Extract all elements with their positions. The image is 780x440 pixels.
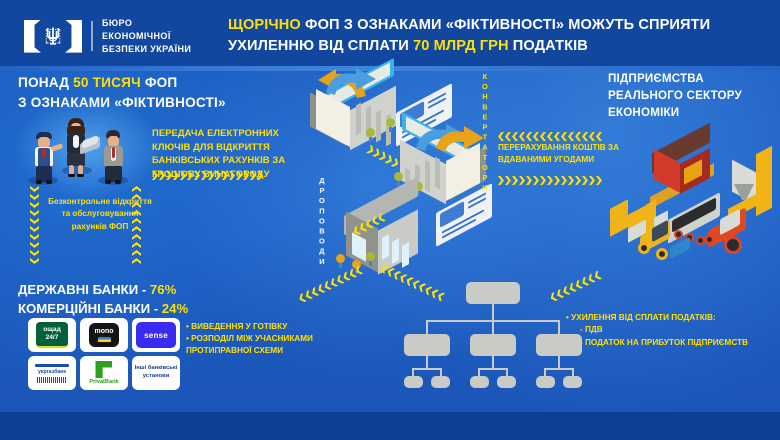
- org-node-l2: [470, 334, 516, 356]
- cash-bullets: • ВИВЕДЕННЯ У ГОТІВКУ • РОЗПОДІЛ МІЖ УЧА…: [186, 321, 318, 357]
- curved-arrow-2: [322, 66, 382, 98]
- commercial-banks-value: 24%: [162, 301, 188, 316]
- cash-bullet-1: • ВИВЕДЕННЯ У ГОТІВКУ: [186, 321, 318, 333]
- state-banks-label: ДЕРЖАВНІ БАНКИ -: [18, 282, 150, 297]
- infographic-canvas: 🇺​ БЮРО ЕКОНОМІЧНОЇ БЕЗПЕКИ УКРАЇНИ ЩОРІ…: [0, 0, 780, 440]
- oschadbank-sub: 24/7: [46, 334, 59, 342]
- org-node-l1b: [431, 376, 450, 388]
- bank-logo-sense[interactable]: sense: [132, 318, 180, 352]
- left-title-post: ФОП: [141, 75, 178, 90]
- state-banks-value: 76%: [150, 282, 176, 297]
- bank-logo-other[interactable]: Інші банківські установи: [132, 356, 180, 390]
- org-node-l2a: [470, 376, 489, 388]
- keys-arrow-row: [152, 171, 263, 180]
- evasion-item-1: - ПДВ: [566, 324, 766, 336]
- wheel-loader-illustration: [626, 224, 692, 262]
- bank-logo-grid: ощад 24/7 mono sense укргазбанк Priva: [28, 318, 180, 390]
- headline-text-2: УХИЛЕННЮ ВІД СПЛАТИ: [228, 38, 413, 54]
- down-arrows-left: [30, 186, 39, 264]
- monobank-name: mono: [94, 328, 113, 335]
- konvertatory-label: КОНВЕРТАТОРИ: [481, 72, 488, 193]
- ua-flag-icon: [98, 337, 111, 342]
- org-node-l2b: [497, 376, 516, 388]
- oschadbank-name: ощад: [43, 326, 61, 334]
- tree-2: [386, 118, 395, 132]
- left-title-pre: ПОНАД: [18, 75, 73, 90]
- bank-logo-oschadbank[interactable]: ощад 24/7: [28, 318, 76, 352]
- tax-evasion-bullets: • УХИЛЕННЯ ВІД СПЛАТИ ПОДАТКІВ: - ПДВ - …: [566, 312, 766, 349]
- other-banks-name: Інші банківські установи: [132, 365, 180, 380]
- org-node-root: [466, 282, 520, 304]
- uncontrolled-accounts-text: Безконтрольне відкриття та обслуговуванн…: [44, 196, 156, 233]
- evasion-title: • УХИЛЕННЯ ВІД СПЛАТИ ПОДАТКІВ:: [566, 312, 766, 324]
- transfer-funds-text: ПЕРЕРАХУВАННЯ КОШТІВ ЗА ВДАВАНИМИ УГОДАМ…: [498, 142, 658, 167]
- commercial-banks-label: КОМЕРЦІЙНІ БАНКИ -: [18, 301, 162, 316]
- ukrgasbank-name: укргазбанк: [38, 369, 66, 375]
- bank-logo-ukrgasbank[interactable]: укргазбанк: [28, 356, 76, 390]
- logo-divider: [91, 21, 93, 51]
- sense-name: sense: [144, 331, 168, 340]
- headline-highlight-1: ЩОРІЧНО: [228, 17, 301, 33]
- footer-bar: [0, 412, 780, 440]
- flow-arrows-office-left: [298, 265, 364, 303]
- bank-logo-monobank[interactable]: mono: [80, 318, 128, 352]
- headline-text-3: ПОДАТКІВ: [509, 38, 588, 54]
- logo-line-3: БЕЗПЕКИ УКРАЇНИ: [102, 43, 191, 56]
- logo-line-1: БЮРО: [102, 17, 191, 30]
- trident-icon: [46, 26, 60, 46]
- evasion-item-2: - ПОДАТОК НА ПРИБУТОК ПІДПРИЄМСТВ: [566, 337, 766, 349]
- bank-logo-privatbank[interactable]: PrivatBank: [80, 356, 128, 390]
- tree-1: [366, 128, 375, 142]
- transfer-arrows-right: [498, 176, 602, 185]
- left-title-number: 50 ТИСЯЧ: [73, 75, 141, 90]
- beb-logo: 🇺​ БЮРО ЕКОНОМІЧНОЇ БЕЗПЕКИ УКРАЇНИ: [24, 17, 191, 55]
- headline-highlight-2: 70 МЛРД ГРН: [413, 38, 509, 54]
- fop-people-illustration: [22, 104, 150, 190]
- org-node-l3a: [536, 376, 555, 388]
- headline: ЩОРІЧНО ФОП З ОЗНАКАМИ «ФІКТИВНОСТІ» МОЖ…: [228, 15, 774, 56]
- privatbank-mark-icon: [95, 361, 112, 378]
- banks-stats: ДЕРЖАВНІ БАНКИ - 76% КОМЕРЦІЙНІ БАНКИ - …: [18, 281, 298, 318]
- org-node-l1a: [404, 376, 423, 388]
- right-title: ПІДПРИЄМСТВА РЕАЛЬНОГО СЕКТОРУ ЕКОНОМІКИ: [608, 71, 778, 121]
- tractor-illustration: [700, 214, 762, 258]
- dropovody-label: ДРОПОВОДИ: [318, 176, 325, 267]
- logo-text: БЮРО ЕКОНОМІЧНОЇ БЕЗПЕКИ УКРАЇНИ: [102, 17, 191, 55]
- cash-bullet-2: • РОЗПОДІЛ МІЖ УЧАСНИКАМИ ПРОТИПРАВНОЇ С…: [186, 333, 318, 357]
- org-node-l3b: [563, 376, 582, 388]
- org-chart-diagram: [404, 282, 584, 390]
- headline-text-1: ФОП З ОЗНАКАМИ «ФІКТИВНОСТІ» МОЖУТЬ СПРИ…: [301, 17, 710, 33]
- bracket-trident-logo-icon: 🇺​: [24, 20, 82, 53]
- tree-7: [366, 252, 375, 266]
- warehouse-illustration: [648, 138, 718, 192]
- transfer-arrows-left: [498, 132, 602, 141]
- org-node-l1: [404, 334, 450, 356]
- logo-line-2: ЕКОНОМІЧНОЇ: [102, 30, 191, 43]
- tree-5: [336, 254, 345, 268]
- privatbank-name: PrivatBank: [89, 379, 118, 385]
